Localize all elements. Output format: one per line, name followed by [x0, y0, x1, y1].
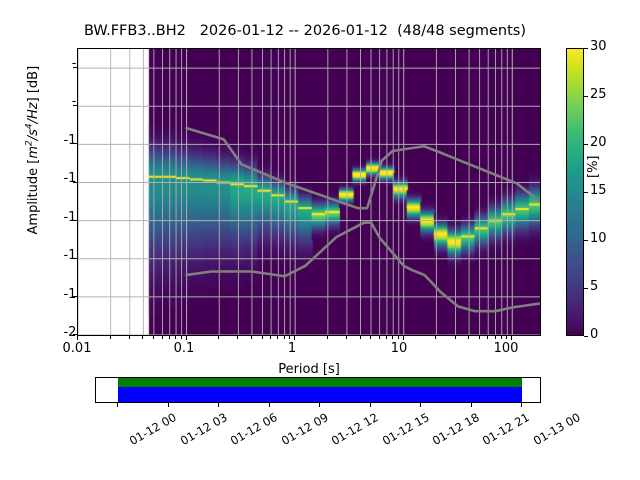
data-coverage-bar [118, 378, 522, 387]
colorbar-tick-label: 30 [590, 39, 630, 54]
x-axis-tick [181, 336, 182, 339]
x-axis-tick [294, 336, 295, 340]
x-axis-tick [346, 336, 347, 339]
x-tick-label: 0.1 [144, 341, 224, 356]
x-axis-tick [270, 336, 271, 339]
colorbar-tick-label: 0 [590, 327, 630, 342]
timeline-tick-label: 01-13 00 [531, 410, 583, 448]
x-tick-label: 10 [359, 341, 439, 356]
ppsd-plot-area[interactable] [77, 48, 541, 336]
timeline-coverage-axes[interactable] [95, 377, 541, 403]
y-axis-tick [73, 105, 77, 106]
x-axis-tick [277, 336, 278, 339]
timeline-tick [117, 403, 118, 407]
y-axis-tick [73, 220, 77, 221]
page-title: BW.FFB3..BH2 2026-01-12 -- 2026-01-12 (4… [0, 23, 610, 39]
x-axis-tick [153, 336, 154, 339]
x-axis-label: Period [s] [77, 362, 541, 377]
colorbar-tick [584, 336, 588, 337]
timeline-tick-label: 01-12 12 [329, 410, 381, 448]
ppsd-figure: BW.FFB3..BH2 2026-01-12 -- 2026-01-12 (4… [0, 0, 640, 480]
timeline-tick [521, 403, 522, 407]
timeline-tick [471, 403, 472, 407]
x-axis-tick [169, 336, 170, 339]
x-axis-tick [506, 336, 507, 339]
colorbar-tick [584, 192, 588, 193]
colorbar-tick [584, 144, 588, 145]
x-axis-tick [398, 336, 399, 339]
timeline-tick [370, 403, 371, 407]
colorbar-tick [584, 48, 588, 49]
x-axis-tick [360, 336, 361, 339]
x-tick-label: 0.01 [37, 341, 117, 356]
x-axis-tick [495, 336, 496, 339]
x-axis-tick [110, 336, 111, 339]
colorbar[interactable] [566, 48, 584, 336]
x-axis-tick [435, 336, 436, 339]
timeline-tick-label: 01-12 03 [178, 410, 230, 448]
y-axis-tick [73, 258, 77, 259]
x-axis-tick [77, 336, 78, 340]
colorbar-tick [584, 96, 588, 97]
y-axis-tick [73, 143, 77, 144]
x-axis-tick [487, 336, 488, 339]
timeline-tick-label: 01-12 06 [228, 410, 280, 448]
timeline-tick [319, 403, 320, 407]
x-axis-tick [186, 336, 187, 340]
x-axis-tick [327, 336, 328, 339]
timeline-tick-label: 01-12 15 [379, 410, 431, 448]
x-axis-tick [142, 336, 143, 339]
x-axis-tick [479, 336, 480, 339]
timeline-tick-label: 01-12 00 [127, 410, 179, 448]
x-axis-tick [511, 336, 512, 340]
x-axis-tick [175, 336, 176, 339]
x-axis-tick [501, 336, 502, 339]
x-axis-tick [262, 336, 263, 339]
colorbar-tick-label: 5 [590, 279, 630, 294]
colorbar-gradient [567, 49, 583, 335]
y-axis-tick [73, 182, 77, 183]
timeline-tick-label: 01-12 09 [279, 410, 331, 448]
timeline-tick-label: 01-12 21 [480, 410, 532, 448]
x-tick-label: 1 [252, 341, 332, 356]
timeline-tick [168, 403, 169, 407]
x-axis-tick [370, 336, 371, 339]
x-axis-tick [162, 336, 163, 339]
x-axis-tick [392, 336, 393, 339]
x-axis-tick [386, 336, 387, 339]
x-tick-label: 100 [466, 341, 546, 356]
psd-coverage-bar [118, 387, 522, 403]
timeline-tick [420, 403, 421, 407]
y-axis-tick [73, 296, 77, 297]
x-axis-tick [468, 336, 469, 339]
colorbar-tick-label: 15 [590, 183, 630, 198]
colorbar-tick [584, 288, 588, 289]
x-axis-tick [379, 336, 380, 339]
x-axis-tick [455, 336, 456, 339]
x-axis-tick [289, 336, 290, 339]
noise-model-curves [78, 49, 540, 335]
colorbar-tick-label: 10 [590, 231, 630, 246]
x-axis-tick [237, 336, 238, 339]
timeline-tick [218, 403, 219, 407]
y-axis-tick [73, 67, 77, 68]
x-axis-tick [251, 336, 252, 339]
colorbar-tick-label: 20 [590, 135, 630, 150]
x-axis-tick [284, 336, 285, 339]
timeline-tick [269, 403, 270, 407]
timeline-tick-label: 01-12 18 [430, 410, 482, 448]
colorbar-tick-label: 25 [590, 87, 630, 102]
y-axis-tick [73, 334, 77, 335]
colorbar-tick [584, 240, 588, 241]
x-axis-tick [218, 336, 219, 339]
x-axis-tick [129, 336, 130, 339]
x-axis-tick [403, 336, 404, 340]
colorbar-label: [%] [586, 156, 601, 179]
